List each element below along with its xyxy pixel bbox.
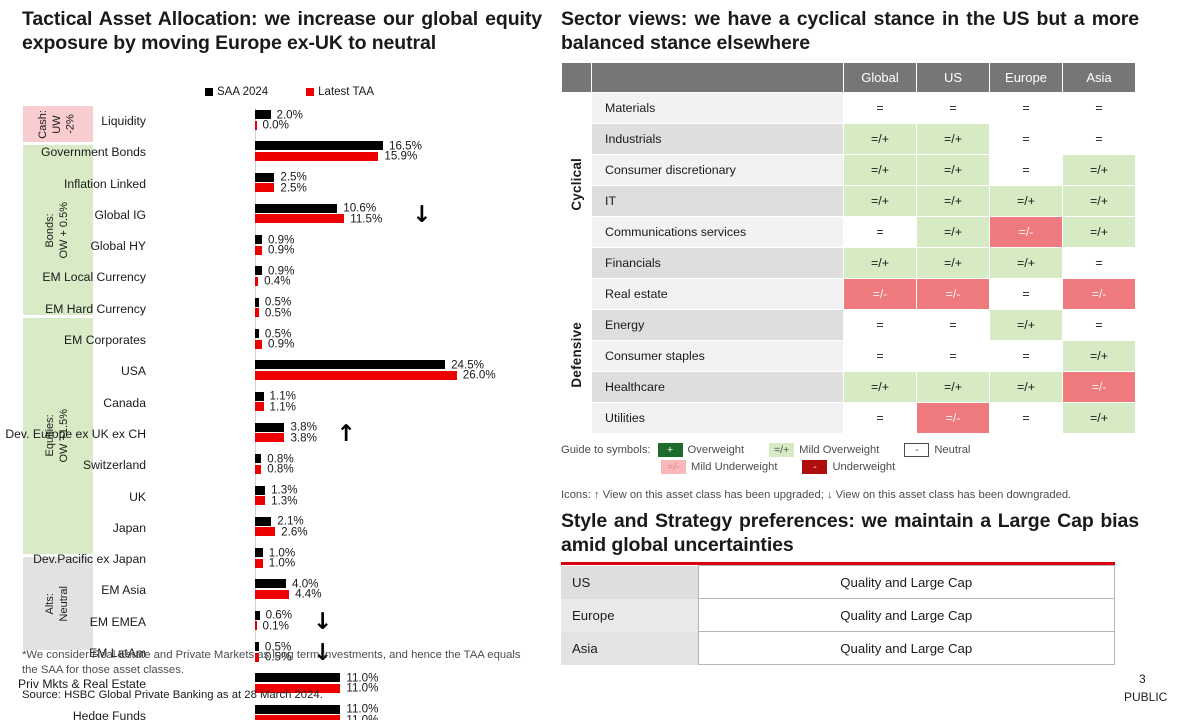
legend-swatch-saa-icon (205, 88, 213, 96)
chart-bar-group: 0.8%0.8% (255, 454, 555, 474)
sector-name-cell: Industrials (592, 124, 844, 155)
chart-bar-group: 0.5%0.9% (255, 329, 555, 349)
sector-view-cell: = (990, 403, 1063, 434)
down-arrow-icon: ↓ (313, 611, 332, 634)
bar-saa: 2.1% (255, 517, 271, 526)
sector-view-cell: =/+ (1063, 155, 1136, 186)
chart-bar-group: 0.9%0.9% (255, 235, 555, 255)
guide-item-neutral: - Neutral (904, 443, 970, 457)
sector-view-cell: =/+ (844, 186, 917, 217)
chart-row: Inflation Linked2.5%2.5% (100, 171, 550, 202)
chart-category-label: Liquidity (0, 114, 146, 128)
sector-view-cell: =/+ (917, 217, 990, 248)
chart-row: Switzerland0.8%0.8% (100, 452, 550, 483)
chart-bar-group: 16.5%15.9% (255, 141, 555, 161)
bar-saa: 1.0% (255, 548, 263, 557)
guide-to-symbols: Guide to symbols: + Overweight =/+ Mild … (561, 443, 1161, 477)
tactical-allocation-title: Tactical Asset Allocation: we increase o… (22, 8, 542, 56)
legend-item-taa: Latest TAA (306, 86, 374, 98)
chart-row: EM Asia4.0%4.4% (100, 577, 550, 608)
bar-saa: 0.5% (255, 298, 259, 307)
chart-row: Global HY0.9%0.9% (100, 233, 550, 264)
sector-view-cell: = (990, 155, 1063, 186)
bar-taa: 11.0% (255, 715, 340, 720)
chart-footnote: *We consider Real Estate and Private Mar… (22, 648, 522, 679)
sector-name-cell: Materials (592, 93, 844, 124)
sector-view-cell: =/+ (917, 372, 990, 403)
sector-view-cell: =/+ (990, 372, 1063, 403)
bar-taa: 4.4% (255, 590, 289, 599)
bar-saa: 16.5% (255, 141, 383, 150)
sector-view-cell: =/+ (917, 124, 990, 155)
bar-saa: 0.8% (255, 454, 261, 463)
sector-col-global: Global (844, 63, 917, 93)
sector-view-cell: =/- (990, 217, 1063, 248)
sector-view-cell: =/+ (844, 155, 917, 186)
guide-text-mild-overweight: Mild Overweight (799, 444, 879, 456)
sector-table-header: Global US Europe Asia (562, 63, 1136, 93)
sector-view-cell: = (990, 124, 1063, 155)
style-preference-cell: Quality and Large Cap (698, 566, 1115, 599)
chart-category-label: UK (0, 490, 146, 504)
left-panel: Tactical Asset Allocation: we increase o… (0, 0, 556, 720)
overweight-swatch-icon: + (658, 443, 683, 457)
table-row: Financials=/+=/+=/+= (562, 248, 1136, 279)
guide-label: Guide to symbols: (561, 444, 651, 456)
bar-saa: 0.9% (255, 235, 262, 244)
bar-taa: 1.1% (255, 402, 264, 411)
bar-value-label: 1.0% (269, 557, 295, 570)
sector-group-label: Cyclical (562, 93, 592, 279)
chart-bar-group: 3.8%3.8% (255, 423, 555, 443)
chart-category-label: Canada (0, 396, 146, 410)
chart-row: Dev. Europe ex UK ex CH3.8%3.8% (100, 421, 550, 452)
bar-taa: 26.0% (255, 371, 457, 380)
chart-category-label: EM Local Currency (0, 270, 146, 284)
bar-value-label: 4.4% (295, 588, 321, 601)
chart-category-label: EM Asia (0, 583, 146, 597)
guide-item-mild-overweight: =/+ Mild Overweight (769, 443, 879, 457)
bar-value-label: 2.6% (281, 525, 307, 538)
sector-views-table: Global US Europe Asia CyclicalMaterials=… (561, 62, 1136, 434)
bar-taa: 0.0% (255, 121, 257, 130)
sector-view-cell: = (990, 279, 1063, 310)
underweight-swatch-icon: - (802, 460, 827, 474)
sector-view-cell: = (1063, 124, 1136, 155)
style-region-cell: Europe (561, 599, 698, 632)
chart-category-label: Switzerland (0, 458, 146, 472)
bar-value-label: 3.8% (290, 431, 316, 444)
chart-row: EM Corporates0.5%0.9% (100, 327, 550, 358)
sector-view-cell: = (844, 403, 917, 434)
bar-saa: 0.9% (255, 266, 262, 275)
table-row: Consumer discretionary=/+=/+==/+ (562, 155, 1136, 186)
table-row: Healthcare=/+=/+=/+=/- (562, 372, 1136, 403)
bar-saa: 0.6% (255, 611, 260, 620)
chart-bar-group: 1.0%1.0% (255, 548, 555, 568)
guide-text-neutral: Neutral (934, 444, 970, 456)
chart-bar-group: 2.5%2.5% (255, 173, 555, 193)
guide-text-overweight: Overweight (688, 444, 745, 456)
chart-row: EM Local Currency0.9%0.4% (100, 264, 550, 295)
sector-col-us: US (917, 63, 990, 93)
style-region-cell: Asia (561, 632, 698, 665)
slide-page: Tactical Asset Allocation: we increase o… (0, 0, 1197, 720)
style-table-row: AsiaQuality and Large Cap (561, 632, 1115, 665)
guide-item-underweight: - Underweight (802, 460, 895, 474)
sector-table-body: CyclicalMaterials====Industrials=/+=/+==… (562, 93, 1136, 434)
guide-text-mild-underweight: Mild Underweight (691, 461, 777, 473)
sector-view-cell: =/- (1063, 372, 1136, 403)
bar-saa: 24.5% (255, 360, 445, 369)
sector-view-cell: =/+ (990, 186, 1063, 217)
chart-bar-group: 1.1%1.1% (255, 392, 555, 412)
bar-saa: 11.0% (255, 705, 340, 714)
bar-saa: 1.3% (255, 486, 265, 495)
table-row: Consumer staples====/+ (562, 341, 1136, 372)
style-table-body: USQuality and Large CapEuropeQuality and… (561, 566, 1115, 665)
sector-header-row: Global US Europe Asia (562, 63, 1136, 93)
chart-row: Liquidity2.0%0.0% (100, 108, 550, 139)
bar-value-label: 15.9% (384, 150, 417, 163)
down-arrow-icon: ↓ (412, 204, 431, 227)
sector-col-asia: Asia (1063, 63, 1136, 93)
sector-view-cell: =/+ (990, 310, 1063, 341)
style-table-row: EuropeQuality and Large Cap (561, 599, 1115, 632)
sector-view-cell: =/+ (990, 248, 1063, 279)
bar-value-label: 26.0% (463, 369, 496, 382)
sector-view-cell: =/+ (917, 186, 990, 217)
chart-bar-group: 10.6%11.5% (255, 204, 555, 224)
sector-view-cell: =/- (844, 279, 917, 310)
sector-view-cell: =/- (1063, 279, 1136, 310)
chart-bar-group: 2.0%0.0% (255, 110, 555, 130)
sector-view-cell: =/+ (917, 248, 990, 279)
sector-view-cell: = (990, 341, 1063, 372)
sector-view-cell: = (1063, 93, 1136, 124)
page-number: 3 (1139, 672, 1146, 686)
sector-view-cell: = (917, 341, 990, 372)
chart-category-label: Hedge Funds (0, 709, 146, 720)
sector-view-cell: =/+ (844, 248, 917, 279)
bar-saa: 4.0% (255, 579, 286, 588)
bar-taa: 0.4% (255, 277, 258, 286)
band-bonds: Bonds: OW + 0.5% (22, 144, 94, 316)
bar-value-label: 1.1% (270, 400, 296, 413)
sector-view-cell: = (1063, 310, 1136, 341)
guide-item-overweight: + Overweight (658, 443, 745, 457)
bar-value-label: 11.5% (350, 212, 382, 225)
table-row: Industrials=/+=/+== (562, 124, 1136, 155)
legend-label-taa: Latest TAA (318, 86, 374, 98)
sector-view-cell: = (844, 217, 917, 248)
classification-label: PUBLIC (1124, 690, 1167, 704)
table-row: DefensiveReal estate=/-=/-==/- (562, 279, 1136, 310)
chart-row: EM Hard Currency0.5%0.5% (100, 296, 550, 327)
icons-legend-note: Icons: ↑ View on this asset class has be… (561, 489, 1071, 501)
bar-taa: 3.8% (255, 433, 284, 442)
chart-bar-group: 0.5%0.5% (255, 298, 555, 318)
chart-row: Canada1.1%1.1% (100, 390, 550, 421)
sector-view-cell: =/+ (917, 155, 990, 186)
bar-value-label: 0.0% (263, 119, 289, 132)
sector-name-cell: Real estate (592, 279, 844, 310)
chart-bar-group: 1.3%1.3% (255, 486, 555, 506)
sector-view-cell: =/+ (1063, 403, 1136, 434)
sector-name-cell: Consumer discretionary (592, 155, 844, 186)
sector-name-cell: Communications services (592, 217, 844, 248)
sector-view-cell: =/+ (1063, 217, 1136, 248)
bar-value-label: 0.1% (263, 619, 289, 632)
legend-item-saa: SAA 2024 (205, 86, 268, 98)
chart-row: Government Bonds16.5%15.9% (100, 139, 550, 170)
bar-value-label: 11.0% (346, 713, 378, 720)
chart-category-label: Global HY (0, 239, 146, 253)
chart-category-label: Dev. Europe ex UK ex CH (0, 427, 146, 441)
bar-value-label: 0.5% (265, 306, 291, 319)
table-row: Utilities==/-==/+ (562, 403, 1136, 434)
guide-text-underweight: Underweight (832, 461, 895, 473)
chart-bar-group: 24.5%26.0% (255, 360, 555, 380)
style-preferences-table: USQuality and Large CapEuropeQuality and… (561, 565, 1115, 665)
bar-taa: 0.8% (255, 465, 261, 474)
bar-taa: 2.5% (255, 183, 274, 192)
sector-name-cell: Healthcare (592, 372, 844, 403)
sector-view-cell: =/+ (844, 372, 917, 403)
chart-bar-group: 4.0%4.4% (255, 579, 555, 599)
table-row: Communications services==/+=/-=/+ (562, 217, 1136, 248)
bar-taa: 2.6% (255, 527, 275, 536)
sector-name-cell: Utilities (592, 403, 844, 434)
sector-view-cell: = (1063, 248, 1136, 279)
chart-legend: SAA 2024 Latest TAA (205, 86, 374, 98)
chart-row: Dev.Pacific ex Japan1.0%1.0% (100, 546, 550, 577)
sector-group-label: Defensive (562, 279, 592, 434)
sector-views-title: Sector views: we have a cyclical stance … (561, 8, 1139, 56)
bar-taa: 1.0% (255, 559, 263, 568)
chart-category-label: EM EMEA (0, 615, 146, 629)
bar-taa: 0.9% (255, 246, 262, 255)
chart-category-label: Government Bonds (0, 145, 146, 159)
sector-view-cell: =/+ (1063, 341, 1136, 372)
chart-row: UK1.3%1.3% (100, 484, 550, 515)
chart-bar-group: 11.0%11.0% (255, 705, 555, 720)
guide-line-1: Guide to symbols: + Overweight =/+ Mild … (561, 443, 1161, 457)
sector-name-cell: IT (592, 186, 844, 217)
bar-saa: 1.1% (255, 392, 264, 401)
bar-value-label: 1.3% (271, 494, 297, 507)
bar-value-label: 2.5% (280, 181, 306, 194)
table-row: Energy===/+= (562, 310, 1136, 341)
bar-saa: 0.5% (255, 329, 259, 338)
table-row: IT=/+=/+=/+=/+ (562, 186, 1136, 217)
guide-line-2: =/- Mild Underweight - Underweight (561, 460, 1161, 474)
bar-value-label: 0.9% (268, 244, 294, 257)
legend-swatch-taa-icon (306, 88, 314, 96)
style-preference-cell: Quality and Large Cap (698, 632, 1115, 665)
sector-view-cell: = (844, 93, 917, 124)
bar-taa: 11.5% (255, 214, 344, 223)
table-row: CyclicalMaterials==== (562, 93, 1136, 124)
bar-taa: 15.9% (255, 152, 378, 161)
chart-category-label: Japan (0, 521, 146, 535)
style-table-row: USQuality and Large Cap (561, 566, 1115, 599)
chart-category-label: Inflation Linked (0, 177, 146, 191)
guide-item-mild-underweight: =/- Mild Underweight (661, 460, 777, 474)
sector-col-europe: Europe (990, 63, 1063, 93)
bar-value-label: 0.9% (268, 338, 294, 351)
chart-category-label: Global IG (0, 208, 146, 222)
bar-saa: 10.6% (255, 204, 337, 213)
sector-view-cell: =/- (917, 279, 990, 310)
sector-view-cell: = (917, 310, 990, 341)
sector-name-cell: Energy (592, 310, 844, 341)
chart-bar-group: 2.1%2.6% (255, 517, 555, 537)
chart-row: USA24.5%26.0% (100, 358, 550, 389)
sector-name-cell: Consumer staples (592, 341, 844, 372)
chart-row: Global IG10.6%11.5% (100, 202, 550, 233)
bar-taa: 0.5% (255, 308, 259, 317)
chart-category-label: Dev.Pacific ex Japan (0, 552, 146, 566)
mild-overweight-swatch-icon: =/+ (769, 443, 794, 457)
style-strategy-title: Style and Strategy preferences: we maint… (561, 510, 1139, 558)
sector-view-cell: =/- (917, 403, 990, 434)
chart-row: Hedge Funds11.0%11.0% (100, 703, 550, 720)
sector-view-cell: =/+ (844, 124, 917, 155)
sector-name-cell: Financials (592, 248, 844, 279)
right-panel: Sector views: we have a cyclical stance … (556, 0, 1197, 720)
style-table-wrap: USQuality and Large CapEuropeQuality and… (561, 562, 1115, 665)
chart-row: Japan2.1%2.6% (100, 515, 550, 546)
bar-taa: 0.1% (255, 621, 257, 630)
sector-view-cell: = (844, 310, 917, 341)
sector-view-cell: =/+ (1063, 186, 1136, 217)
sector-views-table-wrap: Global US Europe Asia CyclicalMaterials=… (561, 62, 1135, 434)
neutral-swatch-icon: - (904, 443, 929, 457)
bar-taa: 0.9% (255, 340, 262, 349)
mild-underweight-swatch-icon: =/- (661, 460, 686, 474)
chart-category-label: USA (0, 364, 146, 378)
bar-value-label: 0.4% (264, 275, 290, 288)
chart-category-label: EM Hard Currency (0, 302, 146, 316)
bar-value-label: 0.8% (267, 463, 293, 476)
bar-taa: 1.3% (255, 496, 265, 505)
style-preference-cell: Quality and Large Cap (698, 599, 1115, 632)
bar-saa: 2.5% (255, 173, 274, 182)
chart-category-label: EM Corporates (0, 333, 146, 347)
chart-bar-group: 0.6%0.1% (255, 611, 555, 631)
chart-source: Source: HSBC Global Private Banking as a… (22, 688, 522, 703)
band-alts: Alts: Neutral (22, 556, 94, 651)
legend-label-saa: SAA 2024 (217, 86, 268, 98)
sector-view-cell: = (917, 93, 990, 124)
sector-view-cell: = (990, 93, 1063, 124)
bar-saa: 3.8% (255, 423, 284, 432)
style-region-cell: US (561, 566, 698, 599)
sector-name-header (592, 63, 844, 93)
sector-group-header (562, 63, 592, 93)
up-arrow-icon: ↑ (336, 423, 355, 446)
sector-view-cell: = (844, 341, 917, 372)
chart-bar-group: 0.9%0.4% (255, 266, 555, 286)
